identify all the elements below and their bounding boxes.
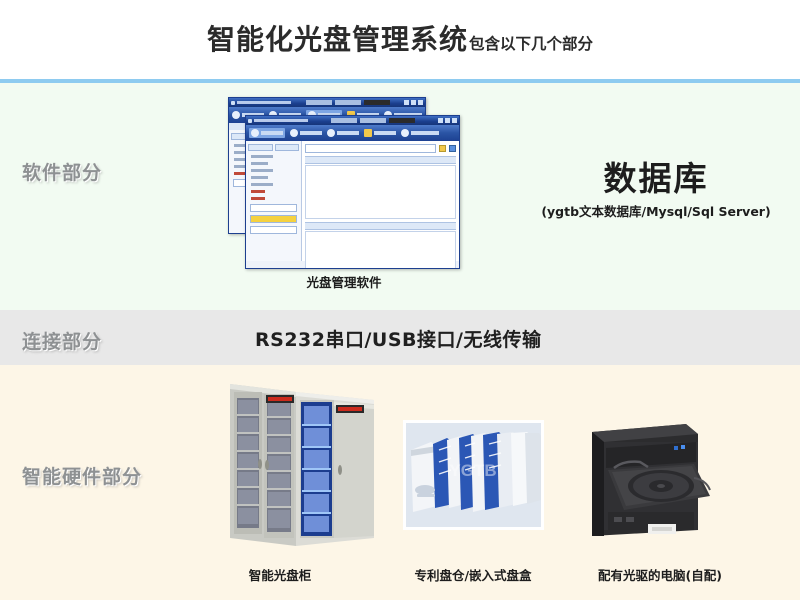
sidebar-field-label [251,155,273,158]
hardware-caption-cabinet: 智能光盘柜 [200,565,360,584]
window-tab-active[interactable] [389,118,415,123]
data-table-upper[interactable] [305,165,456,219]
export-icon [290,129,298,137]
close-icon[interactable] [452,118,457,123]
window-tab-strip [306,100,390,105]
minimize-icon[interactable] [438,118,443,123]
maximize-icon[interactable] [411,100,416,105]
sidebar-tab[interactable] [275,144,300,151]
window-tab[interactable] [331,118,357,123]
software-caption: 光盘管理软件 [228,272,460,291]
sidebar-tabs [248,144,299,151]
search-icon[interactable] [449,145,456,152]
section-label-software: 软件部分 [22,158,102,185]
computer-optical-drive-illustration [578,418,713,538]
section-label-hardware: 智能硬件部分 [22,462,142,489]
page-header: 智能化光盘管理系统 包含以下几个部分 [0,0,800,79]
toolbar-button-settings[interactable] [364,129,396,137]
sidebar-input[interactable] [250,226,297,234]
sidebar-input-highlighted[interactable] [250,215,297,223]
computer-optical-drive-photo [578,418,713,538]
toolbar-label [374,131,396,135]
sidebar-tab[interactable] [248,144,273,151]
toolbar-button-device[interactable] [401,129,439,137]
database-block: 数据库 (ygtb文本数据库/Mysql/Sql Server) [520,160,792,220]
toolbar-label [300,131,322,135]
sidebar-field-label-required [251,190,265,193]
window-title-text [237,101,291,104]
page-title-main: 智能化光盘管理系统 [207,18,468,58]
sidebar-field-label [251,162,268,165]
database-title: 数据库 [520,160,792,198]
close-icon[interactable] [418,100,423,105]
svg-text:YGTB: YGTB [449,461,496,480]
hardware-caption-computer: 配有光驱的电脑(自配) [565,565,755,584]
toolbar-label [411,131,439,135]
gear-icon [364,129,372,137]
disc-icon [327,129,335,137]
connection-methods-text: RS232串口/USB接口/无线传输 [255,325,541,352]
sidebar-field-label [251,169,273,172]
minimize-icon[interactable] [404,100,409,105]
sidebar-field-label-required [251,197,265,200]
window-toolbar [246,125,459,141]
disc-magazine-illustration: YGTB [403,420,544,530]
content-search-bar [305,144,456,153]
database-subtitle: (ygtb文本数据库/Mysql/Sql Server) [520,201,792,220]
window-content [302,141,459,261]
window-controls [404,100,423,105]
software-window-front [245,115,460,269]
sidebar-field-label [251,176,268,179]
toolbar-label [261,131,283,135]
disc-cabinet-illustration [222,378,382,550]
window-tab-active[interactable] [364,100,390,105]
toolbar-button-query[interactable] [327,129,359,137]
toolbar-button-import[interactable] [249,128,285,138]
folder-icon[interactable] [439,145,446,152]
data-table-lower[interactable] [305,231,456,269]
toolbar-label [337,131,359,135]
software-screenshot-group [228,97,458,269]
window-sidebar [246,141,302,261]
device-icon [401,129,409,137]
window-app-icon [231,101,235,105]
window-app-icon [248,119,252,123]
window-title-left [231,101,291,105]
infographic-page: 智能化光盘管理系统 包含以下几个部分 软件部分 [0,0,800,600]
window-title-text [254,119,308,122]
window-tab[interactable] [335,100,361,105]
disc-magazine-photo: YGTB [403,420,544,530]
window-title-bar [229,98,425,107]
page-title-sub: 包含以下几个部分 [469,32,593,54]
table-header-lower [305,222,456,230]
window-controls [438,118,457,123]
search-input[interactable] [305,144,436,153]
window-tab[interactable] [306,100,332,105]
window-tab[interactable] [360,118,386,123]
table-header [305,156,456,164]
maximize-icon[interactable] [445,118,450,123]
sidebar-input[interactable] [250,204,297,212]
disc-cabinet-photo [222,378,382,550]
import-icon [251,129,259,137]
import-icon [232,111,240,119]
window-body [246,141,459,261]
window-title-bar [246,116,459,125]
sidebar-field-label [251,183,273,186]
window-title-left [248,119,308,123]
window-tab-strip [331,118,415,123]
page-title: 智能化光盘管理系统 包含以下几个部分 [207,18,593,58]
hardware-caption-magazine: 专利盘仓/嵌入式盘盒 [393,565,553,584]
toolbar-button-export[interactable] [290,129,322,137]
section-label-connection: 连接部分 [22,327,102,354]
